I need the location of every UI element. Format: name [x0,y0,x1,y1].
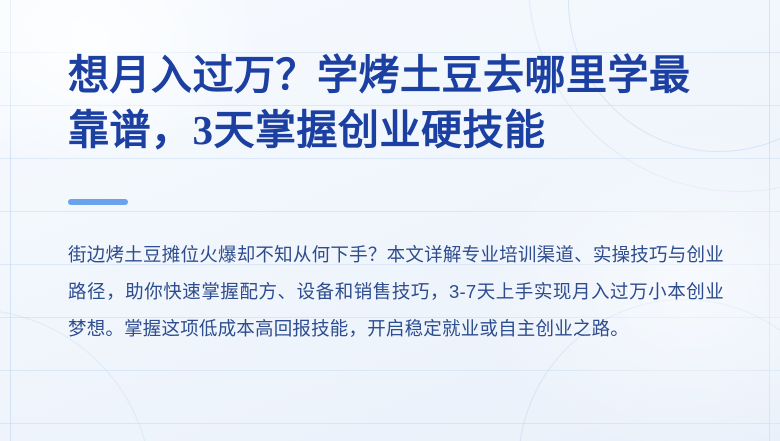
article-title: 想月入过万？学烤土豆去哪里学最靠谱，3天掌握创业硬技能 [68,48,724,158]
accent-divider-bar [68,199,128,205]
background-vertical-line-right [769,0,770,441]
background-vertical-line-left [10,0,11,441]
content-column: 想月入过万？学烤土豆去哪里学最靠谱，3天掌握创业硬技能 街边烤土豆摊位火爆却不知… [68,0,724,441]
article-summary: 街边烤土豆摊位火爆却不知从何下手？本文详解专业培训渠道、实操技巧与创业路径，助你… [68,236,724,347]
article-header-card: 想月入过万？学烤土豆去哪里学最靠谱，3天掌握创业硬技能 街边烤土豆摊位火爆却不知… [0,0,780,441]
